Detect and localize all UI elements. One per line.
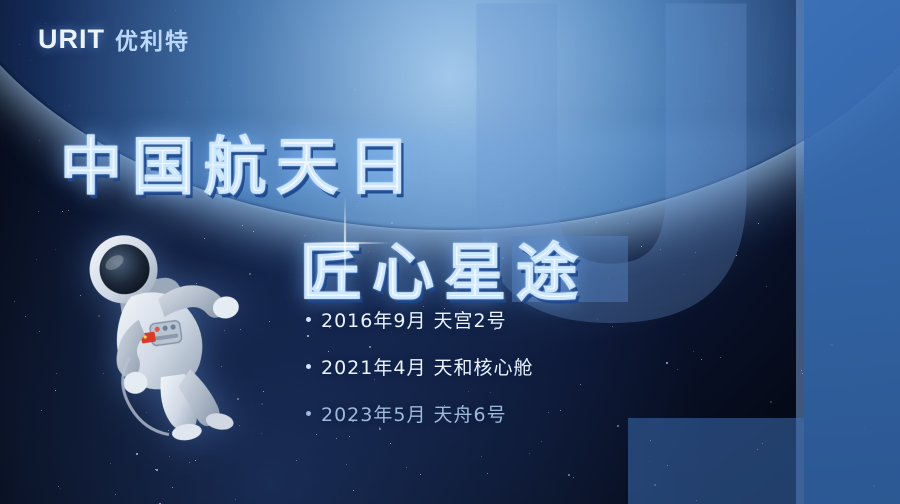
right-blue-rail (804, 0, 900, 504)
list-item-label: 2021年4月 天和核心舱 (321, 353, 533, 380)
timeline-list: 2016年9月 天宫2号 2021年4月 天和核心舱 2023年5月 天舟6号 (306, 306, 533, 447)
list-item-label: 2023年5月 天舟6号 (321, 400, 507, 427)
poster-canvas: U URIT 优利特 中国航天日 匠心星途 2016年9月 天宫2号 2021年… (0, 0, 900, 504)
list-item: 2023年5月 天舟6号 (306, 400, 533, 427)
list-item: 2021年4月 天和核心舱 (306, 353, 533, 380)
brand-logo: URIT 优利特 (38, 22, 190, 56)
headline-line-2: 匠心星途 (300, 222, 588, 312)
logo-text-en: URIT (38, 24, 105, 55)
decor-block-bottom-right (628, 418, 804, 504)
bullet-dot-icon (306, 364, 311, 369)
bullet-dot-icon (306, 411, 311, 416)
astronaut-icon (51, 199, 281, 455)
headline-line-1: 中国航天日 (60, 116, 420, 206)
list-item-label: 2016年9月 天宫2号 (321, 306, 507, 333)
bullet-dot-icon (306, 317, 311, 322)
list-item: 2016年9月 天宫2号 (306, 306, 533, 333)
logo-text-cn: 优利特 (115, 22, 190, 56)
